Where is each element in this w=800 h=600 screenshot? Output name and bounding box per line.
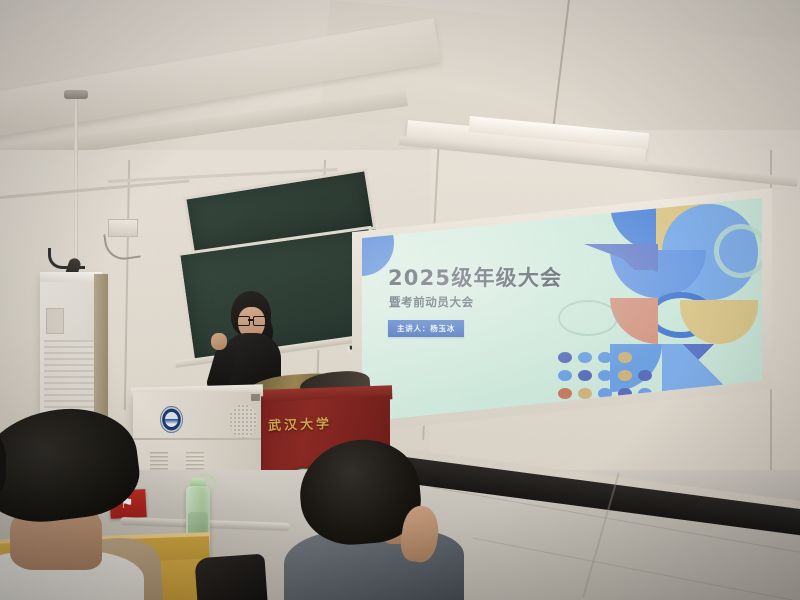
slide-shape-ring-mint-topright xyxy=(714,224,762,278)
student-foreground-left xyxy=(0,400,180,600)
console-switch[interactable] xyxy=(251,394,260,401)
console-speaker-grille xyxy=(229,404,257,438)
slide-presenter-badge: 主讲人：杨玉冰 xyxy=(388,320,464,337)
bag-on-desk xyxy=(194,554,267,600)
glasses-bridge xyxy=(248,319,254,321)
podium-label: 武汉大学 xyxy=(268,413,333,434)
student-left-hair xyxy=(0,401,144,530)
slide-shape-half-gold xyxy=(680,300,758,344)
slide-shape-triangle-periwinkle-fill xyxy=(584,244,658,270)
ac-control-panel[interactable] xyxy=(46,308,64,334)
classroom-scene: 值日生 卫生标准 xyxy=(0,0,800,600)
student-foreground-right xyxy=(290,440,480,600)
slide-subtitle: 暨考前动员大会 xyxy=(389,294,474,310)
slide-title: 2025级年级大会 xyxy=(388,262,562,292)
slide-shape-ring-outline-faint xyxy=(558,300,618,336)
presenter-fist xyxy=(211,333,227,350)
ceiling-mount-pole xyxy=(74,94,78,264)
pole-ceiling-mount xyxy=(64,90,88,99)
ac-top-cap xyxy=(40,272,102,282)
